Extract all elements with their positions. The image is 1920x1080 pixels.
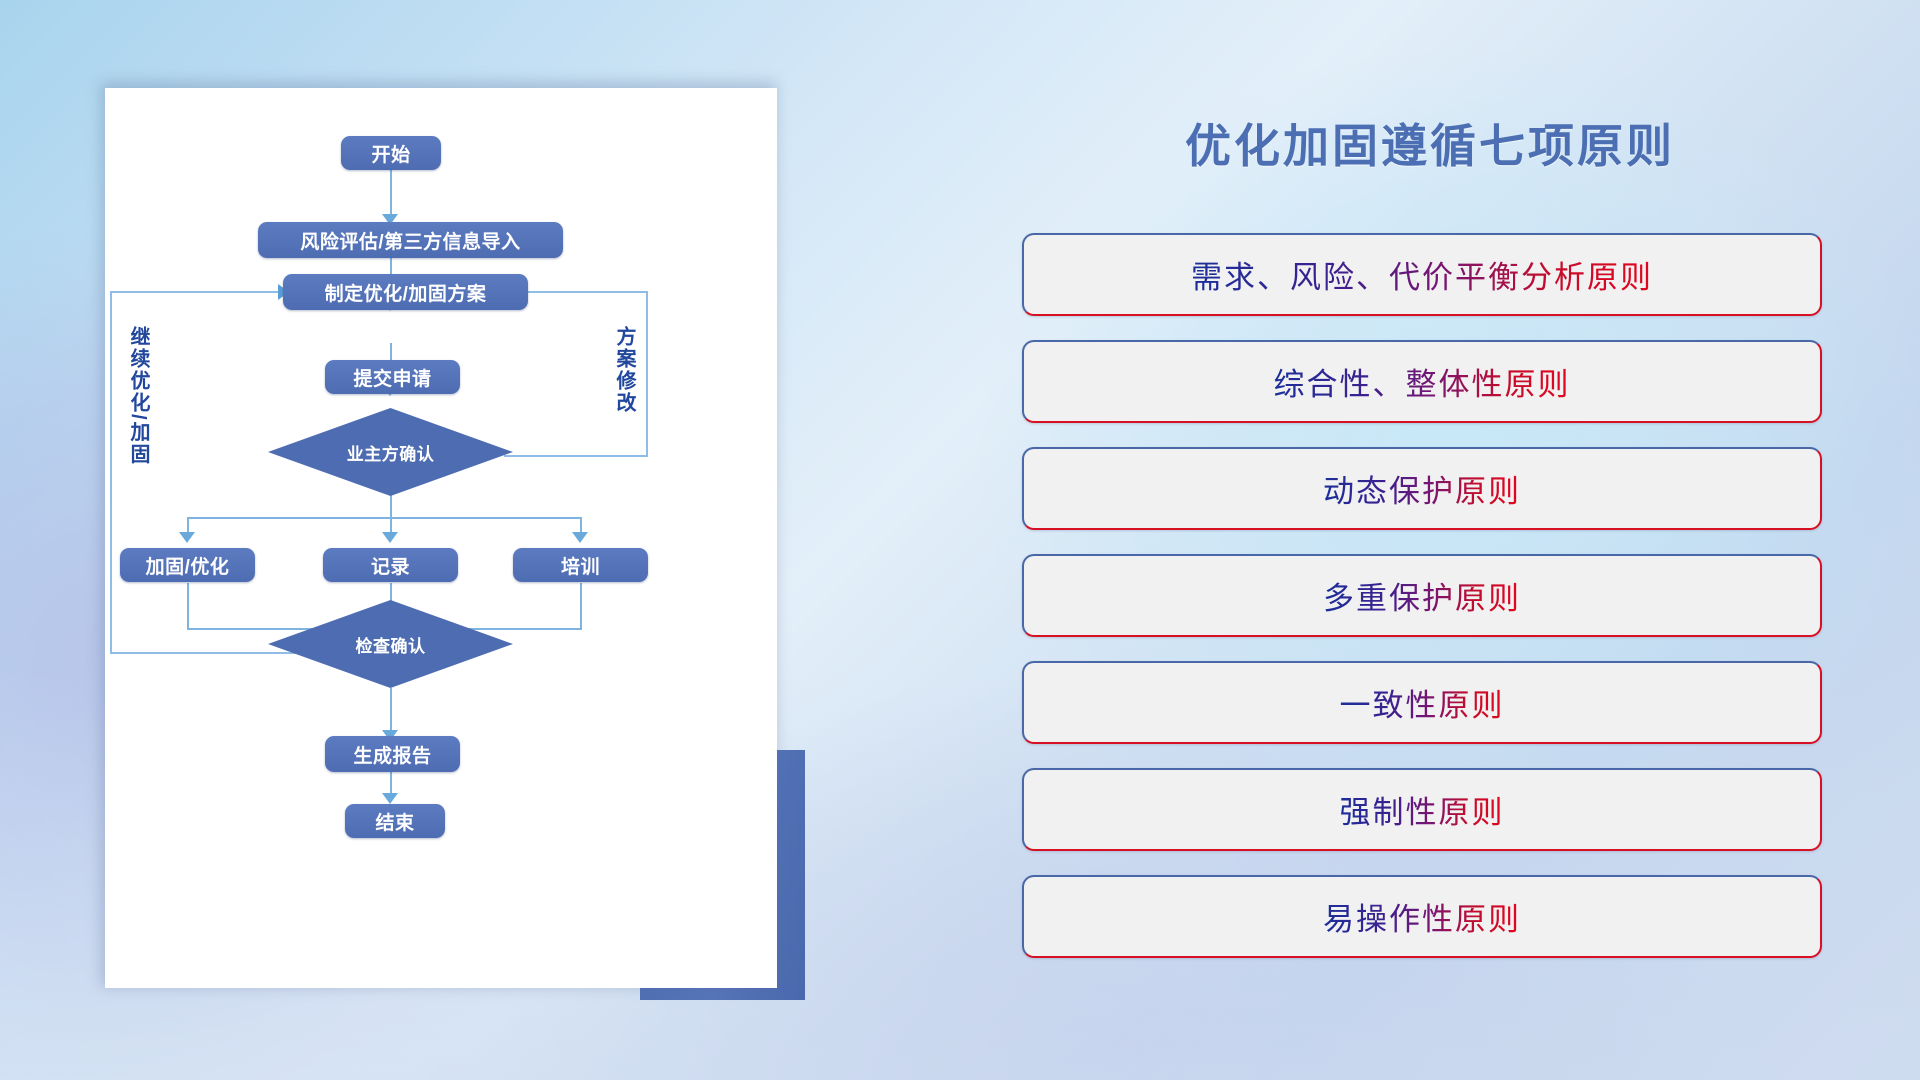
principle-item-7[interactable]: 易操作性原则 bbox=[1022, 875, 1822, 958]
principle-item-2[interactable]: 综合性、整体性原则 bbox=[1022, 340, 1822, 423]
edge-check-report bbox=[390, 688, 392, 736]
principle-label: 需求、风险、代价平衡分析原则 bbox=[1191, 252, 1653, 297]
edge-start-risk bbox=[390, 168, 392, 220]
principle-label: 动态保护原则 bbox=[1323, 466, 1521, 511]
principle-label: 易操作性原则 bbox=[1323, 894, 1521, 939]
edge-confirm-branch-stem bbox=[390, 494, 392, 519]
edge-report-end-arrow bbox=[382, 793, 398, 804]
edge-training-down bbox=[580, 583, 582, 630]
principle-label: 强制性原则 bbox=[1340, 787, 1505, 832]
flow-node-risk-assessment[interactable]: 风险评估/第三方信息导入 bbox=[258, 222, 563, 258]
flowchart-card: 开始 风险评估/第三方信息导入 制定优化/加固方案 提交申请 业主方确认 加固/… bbox=[105, 88, 777, 988]
principle-item-1[interactable]: 需求、风险、代价平衡分析原则 bbox=[1022, 233, 1822, 316]
flow-node-owner-confirm[interactable]: 业主方确认 bbox=[268, 408, 513, 496]
principle-item-4[interactable]: 多重保护原则 bbox=[1022, 554, 1822, 637]
edge-left-loop-top bbox=[110, 291, 280, 293]
principle-item-6[interactable]: 强制性原则 bbox=[1022, 768, 1822, 851]
principle-label: 综合性、整体性原则 bbox=[1274, 359, 1571, 404]
flow-node-submit[interactable]: 提交申请 bbox=[325, 360, 460, 394]
edge-branch-mid-arrow bbox=[382, 532, 398, 543]
flow-node-report[interactable]: 生成报告 bbox=[325, 736, 460, 772]
edge-label-plan-revision: 方案修改 bbox=[613, 326, 634, 414]
flow-node-record[interactable]: 记录 bbox=[323, 548, 458, 582]
principle-label: 一致性原则 bbox=[1340, 680, 1505, 725]
principle-list: 需求、风险、代价平衡分析原则 综合性、整体性原则 动态保护原则 多重保护原则 一… bbox=[1022, 233, 1822, 982]
flow-node-end[interactable]: 结束 bbox=[345, 804, 445, 838]
flow-node-plan[interactable]: 制定优化/加固方案 bbox=[283, 274, 528, 310]
edge-right-loop-vertical bbox=[646, 291, 648, 457]
principle-item-3[interactable]: 动态保护原则 bbox=[1022, 447, 1822, 530]
flow-node-check-confirm-label: 检查确认 bbox=[356, 632, 426, 657]
edge-branch-bus-top bbox=[187, 517, 582, 519]
flow-node-start[interactable]: 开始 bbox=[341, 136, 441, 170]
principle-label: 多重保护原则 bbox=[1323, 573, 1521, 618]
edge-reinforce-down bbox=[187, 583, 189, 630]
edge-label-continue-optimize: 继续优化/加固 bbox=[127, 326, 148, 466]
principle-item-5[interactable]: 一致性原则 bbox=[1022, 661, 1822, 744]
flow-node-check-confirm[interactable]: 检查确认 bbox=[268, 600, 513, 688]
edge-branch-right-arrow bbox=[572, 532, 588, 543]
flow-node-owner-confirm-label: 业主方确认 bbox=[347, 440, 435, 465]
edge-right-loop-bottom bbox=[504, 455, 648, 457]
flow-node-training[interactable]: 培训 bbox=[513, 548, 648, 582]
flow-node-reinforce[interactable]: 加固/优化 bbox=[120, 548, 255, 582]
edge-branch-left-arrow bbox=[179, 532, 195, 543]
edge-left-loop-vertical bbox=[110, 291, 112, 654]
page-title: 优化加固遵循七项原则 bbox=[1020, 110, 1840, 176]
